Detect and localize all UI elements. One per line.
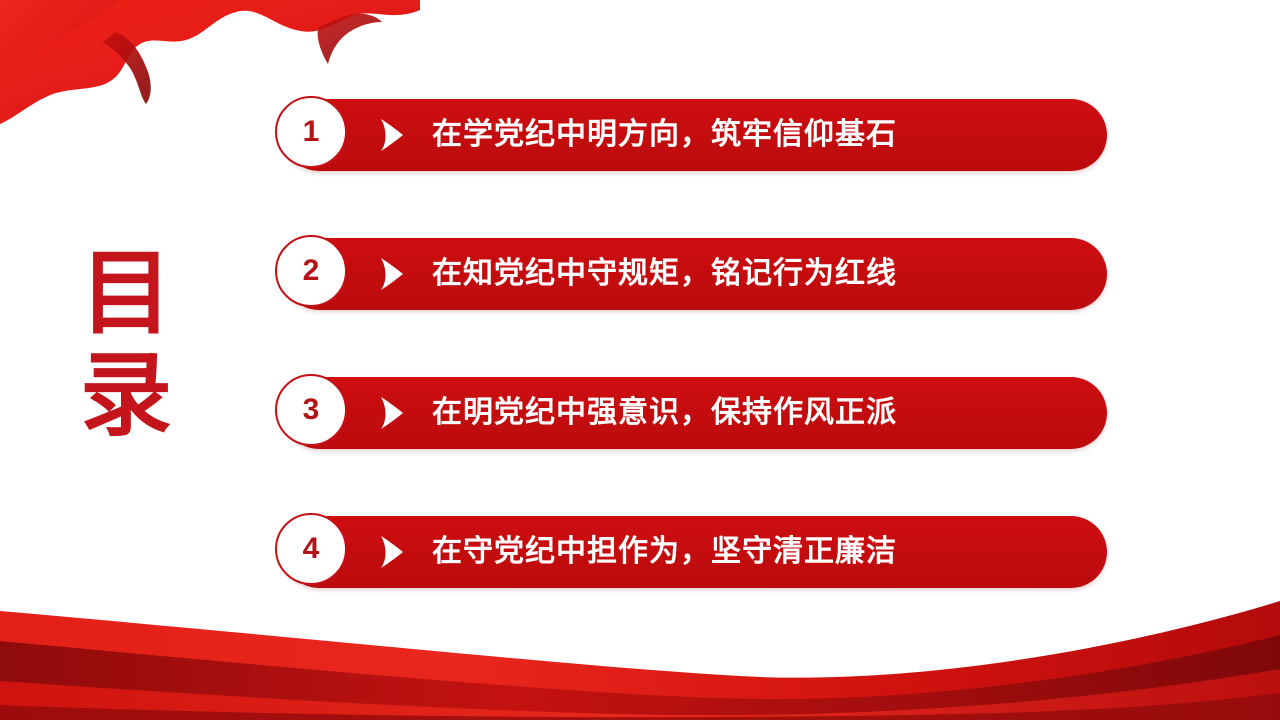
toc-item-number: 1 xyxy=(303,117,320,147)
toc-item-3[interactable]: 3 在明党纪中强意识，保持作风正派 xyxy=(283,377,1107,449)
page-title: 目 录 xyxy=(62,243,190,447)
page-title-char-2: 录 xyxy=(62,345,190,447)
toc-item-2[interactable]: 2 在知党纪中守规矩，铭记行为红线 xyxy=(283,238,1107,310)
toc-item-number-badge: 4 xyxy=(275,513,347,585)
play-triangle-icon xyxy=(378,397,404,429)
toc-item-label: 在守党纪中担作为，坚守清正廉洁 xyxy=(432,516,897,588)
toc-item-number-badge: 3 xyxy=(275,374,347,446)
toc-item-number-badge: 2 xyxy=(275,235,347,307)
toc-item-number: 4 xyxy=(303,534,320,564)
toc-item-1[interactable]: 1 在学党纪中明方向，筑牢信仰基石 xyxy=(283,99,1107,171)
toc-item-label: 在知党纪中守规矩，铭记行为红线 xyxy=(432,238,897,310)
play-triangle-icon xyxy=(378,119,404,151)
toc-item-label: 在明党纪中强意识，保持作风正派 xyxy=(432,377,897,449)
red-wave-ribbon-bottom xyxy=(0,585,1280,720)
toc-item-4[interactable]: 4 在守党纪中担作为，坚守清正廉洁 xyxy=(283,516,1107,588)
page-title-char-1: 目 xyxy=(62,243,190,345)
toc-item-number: 3 xyxy=(303,395,320,425)
toc-list: 1 在学党纪中明方向，筑牢信仰基石 2 在知党纪中守规矩，铭记行为红线 3 在明… xyxy=(283,99,1107,588)
toc-item-number: 2 xyxy=(303,256,320,286)
toc-slide: 目 录 1 在学党纪中明方向，筑牢信仰基石 2 在知党纪中守规矩，铭记行为红线 xyxy=(0,0,1280,720)
toc-item-number-badge: 1 xyxy=(275,96,347,168)
play-triangle-icon xyxy=(378,258,404,290)
play-triangle-icon xyxy=(378,536,404,568)
toc-item-label: 在学党纪中明方向，筑牢信仰基石 xyxy=(432,99,897,171)
